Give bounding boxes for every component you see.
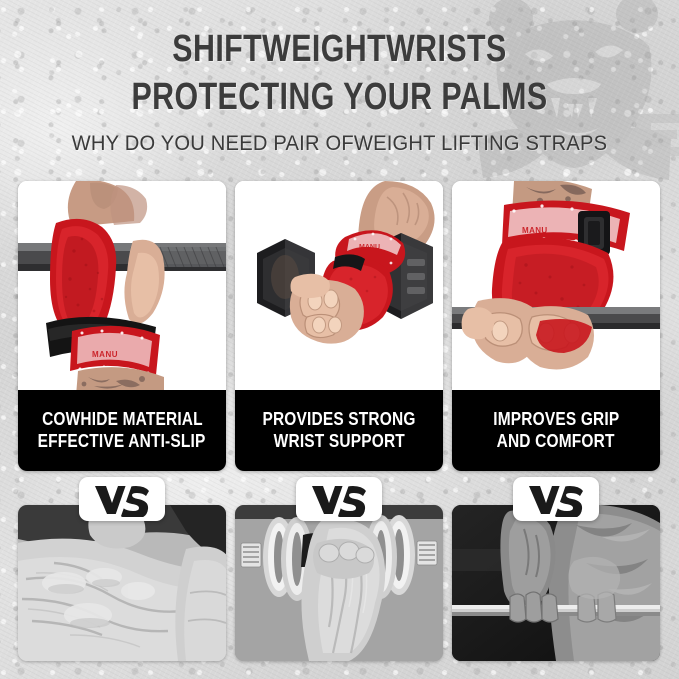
vs-badge-2: [296, 477, 382, 521]
vs-lightning-icon: [526, 481, 586, 517]
svg-text:MANU: MANU: [92, 350, 118, 359]
panel-caption-grip-comfort: IMPROVES GRIP AND COMFORT: [452, 390, 660, 471]
page-title-line-1: SHIFTWEIGHTWRISTS: [68, 30, 611, 68]
product-photo-wrist-support: MANU: [235, 181, 443, 390]
compare-panel-bare-grip-barbell: [452, 505, 660, 661]
vs-lightning-icon: [309, 481, 369, 517]
feature-panel-grip-comfort: MANU: [452, 181, 660, 471]
caption-line-1: IMPROVES GRIP: [493, 410, 619, 429]
product-photo-grip-comfort: MANU: [452, 181, 660, 390]
page-title-line-2: PROTECTING YOUR PALMS: [68, 78, 611, 116]
compare-panel-callused-palm: [18, 505, 226, 661]
header: SHIFTWEIGHTWRISTS PROTECTING YOUR PALMS …: [0, 0, 679, 156]
svg-text:MANU: MANU: [359, 244, 380, 251]
caption-line-2: WRIST SUPPORT: [273, 432, 404, 451]
panel-caption-cowhide: COWHIDE MATERIAL EFFECTIVE ANTI-SLIP: [18, 390, 226, 471]
feature-panel-wrist-support: MANU: [235, 181, 443, 471]
vs-lightning-icon: [92, 481, 152, 517]
product-photo-cowhide: MANU: [18, 181, 226, 390]
svg-text:MANU: MANU: [522, 226, 548, 235]
panel-caption-wrist-support: PROVIDES STRONG WRIST SUPPORT: [235, 390, 443, 471]
compare-panel-chrome-dumbbell: [235, 505, 443, 661]
caption-line-1: COWHIDE MATERIAL: [42, 410, 203, 429]
page-subtitle: WHY DO YOU NEED PAIR OFWEIGHT LIFTING ST…: [14, 132, 666, 156]
caption-line-1: PROVIDES STRONG: [262, 410, 415, 429]
vs-badge-3: [513, 477, 599, 521]
feature-panel-cowhide: MANU CO: [18, 181, 226, 471]
caption-line-2: EFFECTIVE ANTI-SLIP: [38, 432, 206, 451]
caption-line-2: AND COMFORT: [497, 432, 615, 451]
vs-badge-1: [79, 477, 165, 521]
